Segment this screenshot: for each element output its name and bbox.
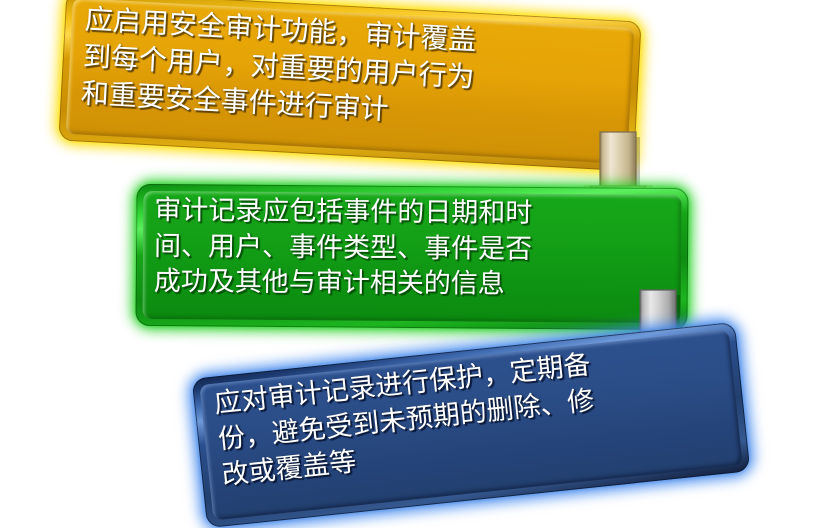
callout-box-audit-protect[interactable]: 应对审计记录进行保护，定期备 份，避免受到未预期的删除、修 改或覆盖等 [192, 322, 751, 528]
box-inner-face [199, 330, 742, 521]
box-inner-face [143, 191, 682, 323]
callout-box-audit-enable[interactable]: 应启用安全审计功能，审计覆盖 到每个用户，对重要的用户行为 和重要安全事件进行审… [58, 0, 641, 171]
callout-box-audit-record[interactable]: 审计记录应包括事件的日期和时 间、用户、事件类型、事件是否 成功及其他与审计相关… [135, 184, 688, 330]
slide-canvas: 应启用安全审计功能，审计覆盖 到每个用户，对重要的用户行为 和重要安全事件进行审… [0, 0, 816, 524]
